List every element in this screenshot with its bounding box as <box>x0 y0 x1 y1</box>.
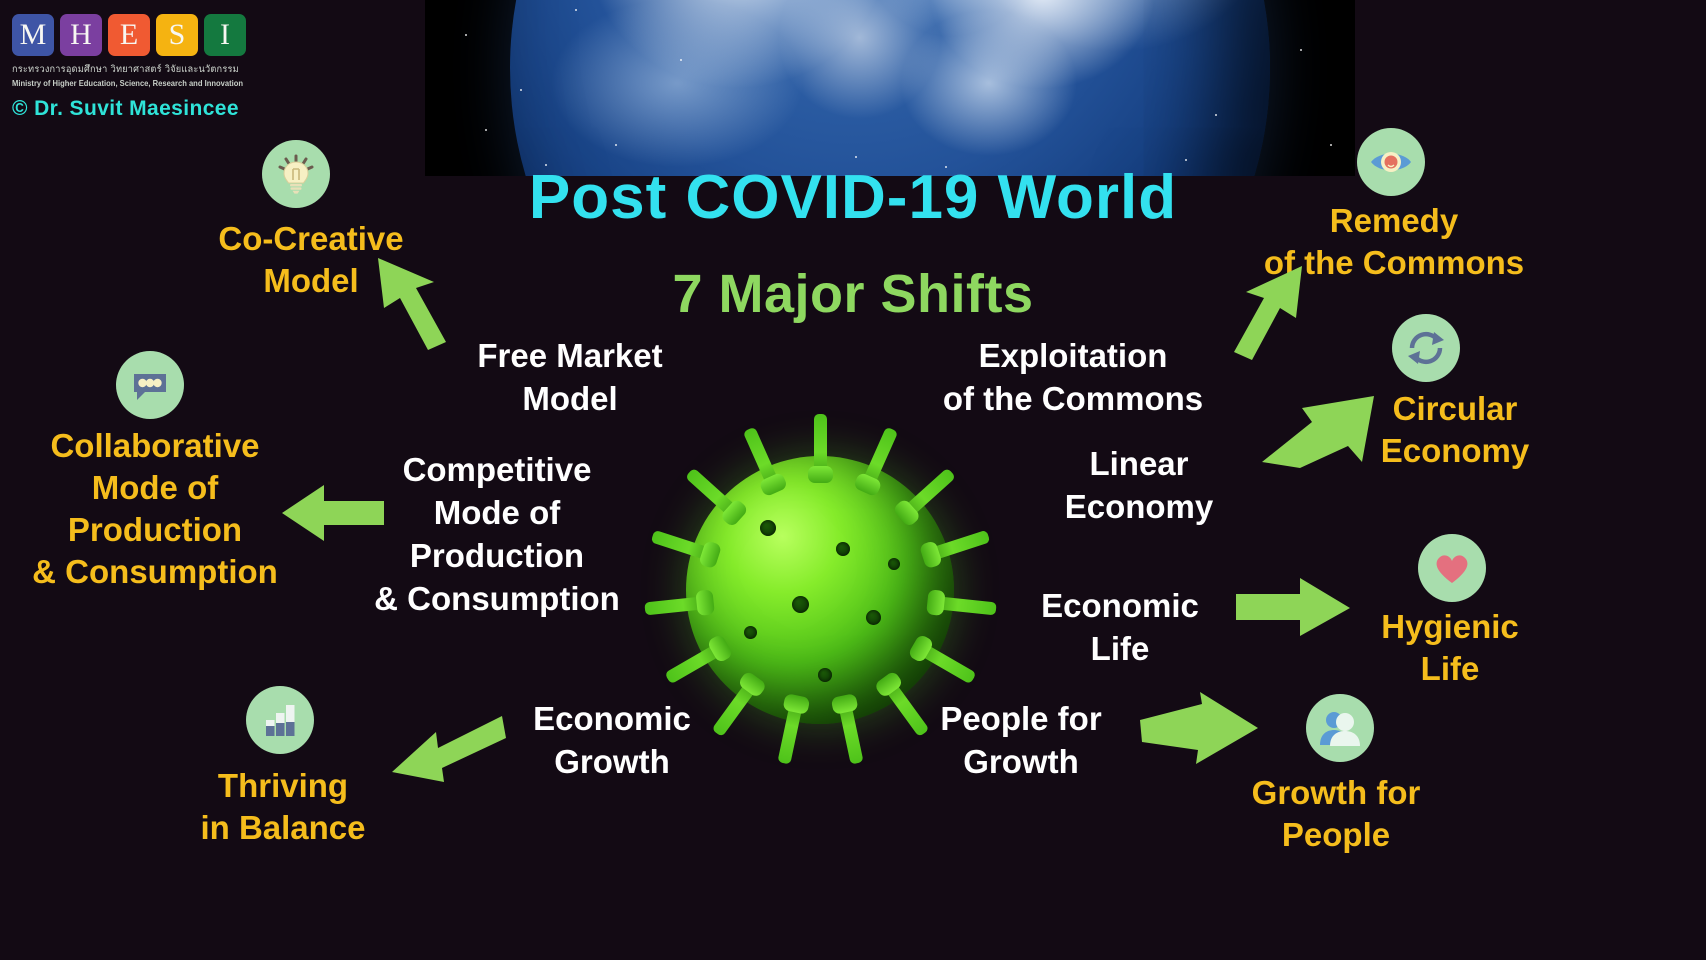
earth-banner-image <box>425 0 1355 176</box>
shift-label-linear-economy: Linear Economy <box>1014 443 1264 529</box>
virus-spike <box>931 595 996 615</box>
star <box>680 59 682 61</box>
logo-letter: S <box>169 18 186 52</box>
logo-tile-m: M <box>12 14 54 56</box>
ministry-name-english: Ministry of Higher Education, Science, R… <box>12 79 269 88</box>
eye-icon-circle <box>1357 128 1425 196</box>
recycle-icon-circle <box>1392 314 1460 382</box>
virus-bleb <box>866 610 881 625</box>
bar-chart-icon-circle <box>246 686 314 754</box>
eye-icon <box>1367 138 1415 186</box>
node-label-thriving-in-balance: Thriving in Balance <box>160 765 406 849</box>
infographic-canvas: M H E S I กระทรวงการอุดมศึกษา วิทยาศาสตร… <box>0 0 1706 960</box>
chat-bubble-icon <box>128 363 172 407</box>
shift-label-economic-life: Economic Life <box>1002 585 1238 671</box>
arrow-economic-growth-to-thriving <box>388 710 506 780</box>
heart-icon <box>1431 547 1473 589</box>
virus-bleb <box>836 542 850 556</box>
star <box>465 34 467 36</box>
shift-label-competitive-mode: Competitive Mode of Production & Consump… <box>352 449 642 621</box>
virus-bleb <box>818 668 832 682</box>
shift-label-economic-growth: Economic Growth <box>498 698 726 784</box>
logo-tile-e: E <box>108 14 150 56</box>
arrow-people-for-growth-to-growth-for-people <box>1140 698 1260 768</box>
logo-tile-h: H <box>60 14 102 56</box>
virus-bleb <box>744 626 757 639</box>
ministry-name-thai: กระทรวงการอุดมศึกษา วิทยาศาสตร์ วิจัยและ… <box>12 62 274 77</box>
logo-letter: E <box>120 18 138 52</box>
star <box>485 129 487 131</box>
star <box>1300 49 1302 51</box>
recycle-icon <box>1403 325 1449 371</box>
heart-icon-circle <box>1418 534 1486 602</box>
chat-bubble-icon-circle <box>116 351 184 419</box>
bar-chart-icon <box>258 698 302 742</box>
virus-bleb <box>760 520 776 536</box>
star <box>1185 159 1187 161</box>
star <box>615 144 617 146</box>
logo-tile-s: S <box>156 14 198 56</box>
arrow-linear-to-circular <box>1256 392 1376 468</box>
star <box>1215 114 1217 116</box>
star <box>575 9 577 11</box>
people-icon <box>1317 705 1363 751</box>
node-label-growth-for-people: Growth for People <box>1212 772 1460 856</box>
star <box>855 156 857 158</box>
mhesi-logo-letters: M H E S I <box>12 14 282 56</box>
people-icon-circle <box>1306 694 1374 762</box>
node-label-hygienic-life: Hygienic Life <box>1330 606 1570 690</box>
node-label-collaborative-mode: Collaborative Mode of Production & Consu… <box>12 425 298 593</box>
shift-label-people-for-growth: People for Growth <box>902 698 1140 784</box>
author-credit: © Dr. Suvit Maesincee <box>12 97 282 121</box>
arrow-economic-life-to-hygienic <box>1236 578 1352 640</box>
lightbulb-icon <box>274 152 318 196</box>
shift-label-free-market-model: Free Market Model <box>450 335 690 421</box>
virus-bleb <box>888 558 900 570</box>
mhesi-logo-block: M H E S I กระทรวงการอุดมศึกษา วิทยาศาสตร… <box>12 14 282 121</box>
virus-bleb <box>792 596 809 613</box>
lightbulb-icon-circle <box>262 140 330 208</box>
logo-letter: H <box>70 18 92 52</box>
logo-letter: I <box>220 18 230 52</box>
star <box>520 89 522 91</box>
virus-spike <box>644 595 709 615</box>
shift-label-exploitation-of-commons: Exploitation of the Commons <box>912 335 1234 421</box>
logo-tile-i: I <box>204 14 246 56</box>
star <box>1330 144 1332 146</box>
virus-spike <box>814 414 827 478</box>
earth-globe <box>510 0 1270 176</box>
logo-letter: M <box>20 18 47 52</box>
